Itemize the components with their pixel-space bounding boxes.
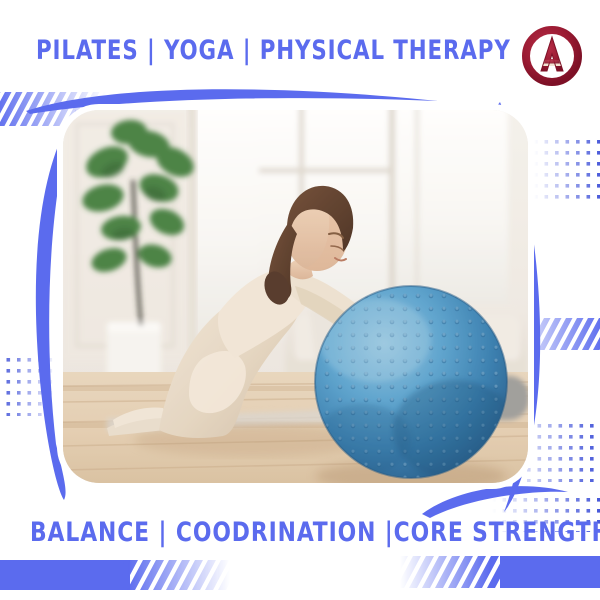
page-title: PILATES | YOGA | PHYSICAL THERAPY xyxy=(36,36,564,66)
stripe-decoration-bottom-left xyxy=(0,560,230,590)
footer-title: BALANCE | COODRINATION |CORE STRENGTH xyxy=(30,518,570,548)
promotional-poster: PILATES | YOGA | PHYSICAL THERAPY xyxy=(0,0,600,600)
blue-curve-accent-bottom-right xyxy=(420,480,570,520)
hero-photo xyxy=(63,110,528,483)
brand-logo-icon xyxy=(522,26,582,86)
stripe-decoration-bottom-right xyxy=(400,556,600,588)
